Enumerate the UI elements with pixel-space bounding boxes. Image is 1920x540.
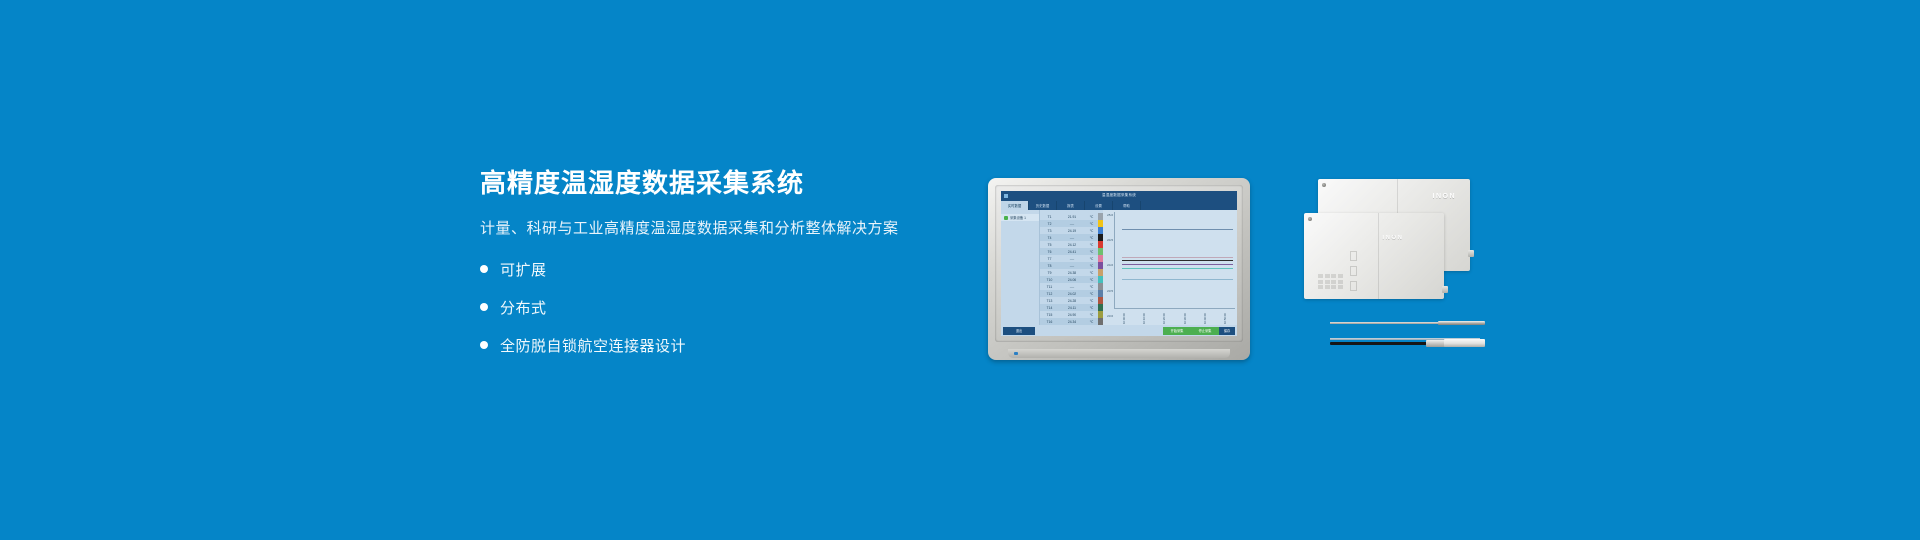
table-row[interactable]: T7----℃ xyxy=(1040,255,1098,262)
monitor-screen: 温湿度数据采集系统 实时数据 历史数据 报表 设置 帮助 采集设备 1 T121… xyxy=(1001,191,1237,336)
cell-value: ---- xyxy=(1057,257,1087,261)
table-row[interactable]: T1624.34℃ xyxy=(1040,318,1098,325)
temperature-probe-connector xyxy=(1330,338,1485,346)
cell-channel: T13 xyxy=(1042,299,1057,303)
chart-series-line xyxy=(1122,260,1232,261)
save-button[interactable]: 保存 xyxy=(1219,327,1235,335)
cell-unit: ℃ xyxy=(1087,229,1096,233)
monitor-device: 温湿度数据采集系统 实时数据 历史数据 报表 设置 帮助 采集设备 1 T121… xyxy=(988,178,1250,360)
cell-channel: T7 xyxy=(1042,257,1057,261)
cell-channel: T4 xyxy=(1042,236,1057,240)
cell-value: 24.41 xyxy=(1057,250,1087,254)
cell-unit: ℃ xyxy=(1087,271,1096,275)
cell-value: 24.90 xyxy=(1057,313,1087,317)
table-row[interactable]: T924.38℃ xyxy=(1040,269,1098,276)
cell-value: 24.02 xyxy=(1057,292,1087,296)
feature-list: 可扩展 分布式 全防脱自锁航空连接器设计 xyxy=(480,259,1000,356)
list-item: 分布式 xyxy=(480,297,1000,318)
cell-channel: T6 xyxy=(1042,250,1057,254)
table-row[interactable]: T2----℃ xyxy=(1040,220,1098,227)
product-banner: 高精度温湿度数据采集系统 计量、科研与工业高精度温湿度数据采集和分析整体解决方案… xyxy=(0,0,1920,540)
bullet-dot-icon xyxy=(480,303,488,311)
probe-shaft xyxy=(1330,322,1442,324)
sidebar-item-label: 采集设备 1 xyxy=(1010,215,1026,220)
table-row[interactable]: T4----℃ xyxy=(1040,234,1098,241)
probe-body xyxy=(1444,339,1485,347)
cell-unit: ℃ xyxy=(1087,278,1096,282)
screw-icon xyxy=(1322,183,1326,187)
list-item: 全防脱自锁航空连接器设计 xyxy=(480,335,1000,356)
module-front: INON xyxy=(1304,213,1444,299)
chart-series-line xyxy=(1122,229,1232,230)
cell-unit: ℃ xyxy=(1087,306,1096,310)
bullet-dot-icon xyxy=(480,341,488,349)
cell-channel: T16 xyxy=(1042,320,1057,324)
channel-table: T121.91℃T2----℃T324.19℃T4----℃T524.12℃T6… xyxy=(1040,210,1098,325)
feature-label: 全防脱自锁航空连接器设计 xyxy=(500,335,686,356)
cell-unit: ℃ xyxy=(1087,215,1096,219)
chart-series-line xyxy=(1122,279,1232,280)
tab-history[interactable]: 历史数据 xyxy=(1029,201,1057,210)
cell-channel: T2 xyxy=(1042,222,1057,226)
cell-channel: T9 xyxy=(1042,271,1057,275)
bullet-dot-icon xyxy=(480,265,488,273)
cell-channel: T15 xyxy=(1042,313,1057,317)
feature-label: 分布式 xyxy=(500,297,547,318)
cell-unit: ℃ xyxy=(1087,313,1096,317)
tab-realtime[interactable]: 实时数据 xyxy=(1001,201,1029,210)
stop-acquisition-button[interactable]: 停止采集 xyxy=(1191,327,1219,335)
table-row[interactable]: T1424.11℃ xyxy=(1040,304,1098,311)
screw-icon xyxy=(1308,217,1312,221)
page-subtitle: 计量、科研与工业高精度温湿度数据采集和分析整体解决方案 xyxy=(480,219,1000,239)
power-led-icon xyxy=(1014,352,1018,355)
table-row[interactable]: T121.91℃ xyxy=(1040,213,1098,220)
feature-label: 可扩展 xyxy=(500,259,547,280)
cell-value: 24.28 xyxy=(1057,299,1087,303)
x-tick-label: 10:20:00 xyxy=(1162,309,1166,324)
device-tree-sidebar: 采集设备 1 xyxy=(1001,210,1040,325)
y-tick-label: 24.0 xyxy=(1107,263,1113,267)
chart-y-axis: 25.024.524.023.523.0 xyxy=(1103,210,1114,325)
port-column xyxy=(1350,251,1357,291)
cell-unit: ℃ xyxy=(1087,299,1096,303)
app-body: 采集设备 1 T121.91℃T2----℃T324.19℃T4----℃T52… xyxy=(1001,210,1237,325)
cell-value: 21.91 xyxy=(1057,215,1087,219)
exit-button[interactable]: 退出 xyxy=(1003,327,1035,335)
app-titlebar: 温湿度数据采集系统 xyxy=(1001,191,1237,200)
cell-channel: T14 xyxy=(1042,306,1057,310)
connector-icon xyxy=(1442,286,1448,293)
x-tick-label: 10:40:00 xyxy=(1203,309,1207,324)
y-tick-label: 24.5 xyxy=(1107,238,1113,242)
list-item: 可扩展 xyxy=(480,259,1000,280)
cell-unit: ℃ xyxy=(1087,257,1096,261)
cell-value: 24.19 xyxy=(1057,229,1087,233)
chart-series-line xyxy=(1122,268,1232,269)
chart-x-axis: 10:00:0010:10:0010:20:0010:30:0010:40:00… xyxy=(1114,309,1235,324)
y-tick-label: 23.0 xyxy=(1107,314,1113,318)
probe-tip xyxy=(1438,321,1485,325)
table-row[interactable]: T1224.02℃ xyxy=(1040,290,1098,297)
cell-unit: ℃ xyxy=(1087,243,1096,247)
y-tick-label: 23.5 xyxy=(1107,289,1113,293)
y-tick-label: 25.0 xyxy=(1107,213,1113,217)
trend-chart: 25.024.524.023.523.0 10:00:0010:10:0010:… xyxy=(1103,210,1237,325)
brand-label: INON xyxy=(1433,193,1457,200)
chart-series-line xyxy=(1122,264,1232,265)
cell-channel: T10 xyxy=(1042,278,1057,282)
probe-cable xyxy=(1330,342,1430,345)
tab-settings[interactable]: 设置 xyxy=(1085,201,1113,210)
enclosure-modules: INON INON xyxy=(1300,175,1490,300)
cell-unit: ℃ xyxy=(1087,236,1096,240)
cell-value: 24.34 xyxy=(1057,320,1087,324)
table-row[interactable]: T1024.06℃ xyxy=(1040,276,1098,283)
app-tab-bar: 实时数据 历史数据 报表 设置 帮助 xyxy=(1001,200,1237,210)
sidebar-item-device[interactable]: 采集设备 1 xyxy=(1001,214,1039,221)
probe-ferrule xyxy=(1426,340,1446,347)
footer-button-group: 开始采集 停止采集 保存 xyxy=(1163,327,1235,335)
cell-unit: ℃ xyxy=(1087,292,1096,296)
tab-help[interactable]: 帮助 xyxy=(1113,201,1141,210)
x-tick-label: 10:50:00 xyxy=(1223,309,1227,324)
cell-channel: T5 xyxy=(1042,243,1057,247)
cell-value: ---- xyxy=(1057,236,1087,240)
module-seam xyxy=(1378,213,1379,299)
x-tick-label: 10:00:00 xyxy=(1122,309,1126,324)
cell-value: 24.12 xyxy=(1057,243,1087,247)
x-tick-label: 10:10:00 xyxy=(1142,309,1146,324)
chart-series-line xyxy=(1122,257,1232,258)
cell-unit: ℃ xyxy=(1087,264,1096,268)
chart-plot-area xyxy=(1114,212,1235,309)
start-acquisition-button[interactable]: 开始采集 xyxy=(1163,327,1191,335)
page-title: 高精度温湿度数据采集系统 xyxy=(480,168,1000,199)
cell-value: 24.06 xyxy=(1057,278,1087,282)
banner-copy: 高精度温湿度数据采集系统 计量、科研与工业高精度温湿度数据采集和分析整体解决方案… xyxy=(480,168,1000,373)
cell-channel: T8 xyxy=(1042,264,1057,268)
table-row[interactable]: T8----℃ xyxy=(1040,262,1098,269)
cell-unit: ℃ xyxy=(1087,222,1096,226)
table-row[interactable]: T524.12℃ xyxy=(1040,241,1098,248)
cell-value: ---- xyxy=(1057,264,1087,268)
cell-value: 24.11 xyxy=(1057,306,1087,310)
cell-value: ---- xyxy=(1057,285,1087,289)
cell-channel: T11 xyxy=(1042,285,1057,289)
x-tick-label: 10:30:00 xyxy=(1183,309,1187,324)
table-row[interactable]: T324.19℃ xyxy=(1040,227,1098,234)
cell-channel: T12 xyxy=(1042,292,1057,296)
table-row[interactable]: T1524.90℃ xyxy=(1040,311,1098,318)
tab-report[interactable]: 报表 xyxy=(1057,201,1085,210)
cell-unit: ℃ xyxy=(1087,285,1096,289)
table-row[interactable]: T1324.28℃ xyxy=(1040,297,1098,304)
cell-value: ---- xyxy=(1057,222,1087,226)
temperature-probe-thin xyxy=(1330,320,1485,325)
cell-channel: T3 xyxy=(1042,229,1057,233)
monitor-stand xyxy=(1008,349,1230,358)
device-icon xyxy=(1004,216,1008,220)
cell-channel: T1 xyxy=(1042,215,1057,219)
connector-icon xyxy=(1468,250,1474,257)
table-row[interactable]: T624.41℃ xyxy=(1040,248,1098,255)
app-title: 温湿度数据采集系统 xyxy=(1001,193,1237,198)
table-row[interactable]: T11----℃ xyxy=(1040,283,1098,290)
cell-value: 24.38 xyxy=(1057,271,1087,275)
app-footer: 退出 开始采集 停止采集 保存 xyxy=(1001,325,1237,336)
cell-unit: ℃ xyxy=(1087,320,1096,324)
brand-label: INON xyxy=(1382,235,1403,241)
cell-unit: ℃ xyxy=(1087,250,1096,254)
label-plate xyxy=(1318,274,1343,289)
